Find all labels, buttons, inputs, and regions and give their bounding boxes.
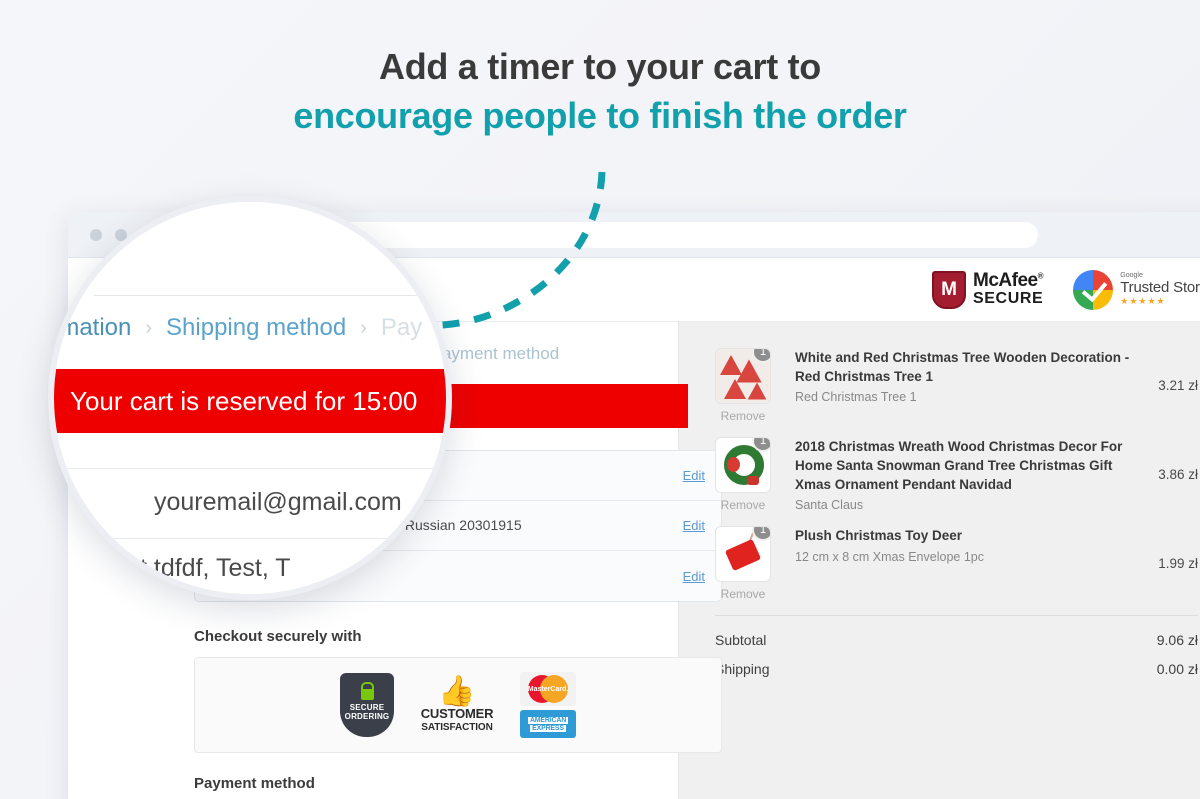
- summary-divider: [715, 615, 1198, 616]
- cart-item-variant: Red Christmas Tree 1: [795, 390, 1136, 404]
- cart-item-variant: 12 cm x 8 cm Xmas Envelope 1pc: [795, 550, 1136, 564]
- card-badges: MasterCard. AMERICAN EXPRESS: [520, 672, 576, 738]
- mcafee-mark: M: [941, 280, 957, 299]
- headline-line-2: encourage people to finish the order: [0, 87, 1200, 145]
- mcafee-secure-badge: M McAfee® SECURE: [932, 271, 1043, 309]
- magnified-breadcrumb-payment: Pay: [381, 314, 422, 342]
- magnified-top-divider: [94, 295, 446, 296]
- mcafee-wordmark: McAfee: [973, 270, 1038, 291]
- remove-item-link[interactable]: Remove: [715, 498, 771, 512]
- shipping-label: Shipping: [715, 661, 770, 677]
- registered-icon: ®: [1038, 272, 1043, 281]
- cart-item-title: White and Red Christmas Tree Wooden Deco…: [795, 348, 1136, 386]
- cart-item-thumbnail-wrap: 1 Remove: [715, 437, 779, 512]
- trust-badges: M McAfee® SECURE Google Trusted Store ★★…: [932, 270, 1200, 310]
- magnifier-lens: ormation › Shipping method › Pay Your ca…: [48, 196, 452, 600]
- checkmark-icon: [1073, 270, 1113, 310]
- summary-row-subtotal: Subtotal 9.06 zł: [715, 632, 1198, 648]
- edit-ship-to-link[interactable]: Edit: [683, 518, 705, 533]
- page-title: Add a timer to your cart to encourage pe…: [0, 46, 1200, 145]
- thumbs-up-icon: 👍: [438, 677, 475, 707]
- cart-item-variant: Santa Claus: [795, 498, 1136, 512]
- subtotal-value: 9.06 zł: [1157, 632, 1198, 648]
- checkout-securely-title: Checkout securely with: [194, 628, 678, 645]
- cart-item-thumbnail-wrap: 1 Remove: [715, 348, 779, 423]
- edit-method-link[interactable]: Edit: [683, 569, 705, 584]
- cart-line-item: 1 Remove 2018 Christmas Wreath Wood Chri…: [715, 437, 1198, 512]
- magnified-breadcrumb-shipping[interactable]: Shipping method: [166, 314, 346, 342]
- subtotal-label: Subtotal: [715, 632, 766, 648]
- edit-contact-link[interactable]: Edit: [683, 468, 705, 483]
- remove-item-link[interactable]: Remove: [715, 409, 771, 423]
- magnified-divider-2: [54, 468, 446, 469]
- cart-line-item: 1 Remove Plush Christmas Toy Deer 12 cm …: [715, 526, 1198, 601]
- cart-item-info: White and Red Christmas Tree Wooden Deco…: [795, 348, 1146, 404]
- cart-item-info: 2018 Christmas Wreath Wood Christmas Dec…: [795, 437, 1146, 512]
- cart-item-thumbnail-wrap: 1 Remove: [715, 526, 779, 601]
- customer-satisfaction-line-2: SATISFACTION: [421, 722, 492, 733]
- mcafee-secure-text: SECURE: [973, 291, 1043, 308]
- shipping-value: 0.00 zł: [1157, 661, 1198, 677]
- cart-item-price: 3.86 zł: [1146, 467, 1198, 482]
- payment-method-title: Payment method: [194, 775, 678, 792]
- cart-item-price: 1.99 zł: [1146, 556, 1198, 571]
- mastercard-icon: MasterCard.: [520, 672, 576, 706]
- mastercard-label: MasterCard.: [528, 686, 568, 693]
- secure-ordering-line-1: SECURE: [350, 703, 385, 712]
- american-express-icon: AMERICAN EXPRESS: [520, 710, 576, 738]
- magnified-timer-banner: Your cart is reserved for 15:00: [54, 369, 446, 433]
- christmas-wreath-thumbnail: 1: [715, 437, 771, 493]
- google-trusted-store-badge: Google Trusted Store ★★★★★: [1073, 270, 1200, 310]
- cart-item-title: Plush Christmas Toy Deer: [795, 526, 1136, 545]
- secure-ordering-line-2: ORDERING: [345, 712, 390, 721]
- breadcrumb-item-payment-method: Payment method: [431, 344, 560, 364]
- magnified-breadcrumb: ormation › Shipping method › Pay: [48, 314, 422, 342]
- amex-line-1: AMERICAN: [528, 717, 568, 724]
- red-christmas-trees-thumbnail: 1: [715, 348, 771, 404]
- chevron-right-icon: ›: [145, 317, 152, 340]
- order-summary-column: 1 Remove White and Red Christmas Tree Wo…: [678, 322, 1200, 799]
- mcafee-shield-icon: M: [932, 271, 966, 309]
- cart-line-item: 1 Remove White and Red Christmas Tree Wo…: [715, 348, 1198, 423]
- magnified-timer-text: Your cart is reserved for 15:00: [54, 386, 417, 417]
- customer-satisfaction-badge: 👍 CUSTOMER SATISFACTION: [416, 677, 498, 732]
- cart-item-title: 2018 Christmas Wreath Wood Christmas Dec…: [795, 437, 1136, 494]
- cart-item-price: 3.21 zł: [1146, 378, 1198, 393]
- magnified-divider-3: [54, 538, 446, 539]
- chevron-right-icon: ›: [360, 317, 367, 340]
- headline-line-1: Add a timer to your cart to: [0, 46, 1200, 87]
- checkout-securely-badges: SECURE ORDERING 👍 CUSTOMER SATISFACTION …: [194, 657, 722, 753]
- customer-satisfaction-line-1: CUSTOMER: [421, 707, 494, 721]
- cart-item-info: Plush Christmas Toy Deer 12 cm x 8 cm Xm…: [795, 526, 1146, 563]
- secure-ordering-badge-icon: SECURE ORDERING: [340, 673, 394, 737]
- magnified-email-value: youremail@gmail.com: [154, 488, 402, 517]
- red-envelope-tag-thumbnail: 1: [715, 526, 771, 582]
- star-rating-icon: ★★★★★: [1120, 297, 1200, 307]
- lock-icon: [361, 689, 374, 700]
- remove-item-link[interactable]: Remove: [715, 587, 771, 601]
- amex-line-2: EXPRESS: [530, 725, 566, 732]
- trusted-store-label: Trusted Store: [1120, 280, 1200, 297]
- page-root: Add a timer to your cart to encourage pe…: [0, 0, 1200, 799]
- magnified-address-value: t tdfdf, Test, T: [140, 554, 291, 583]
- summary-row-shipping: Shipping 0.00 zł: [715, 661, 1198, 677]
- magnified-breadcrumb-information[interactable]: ormation: [48, 314, 131, 342]
